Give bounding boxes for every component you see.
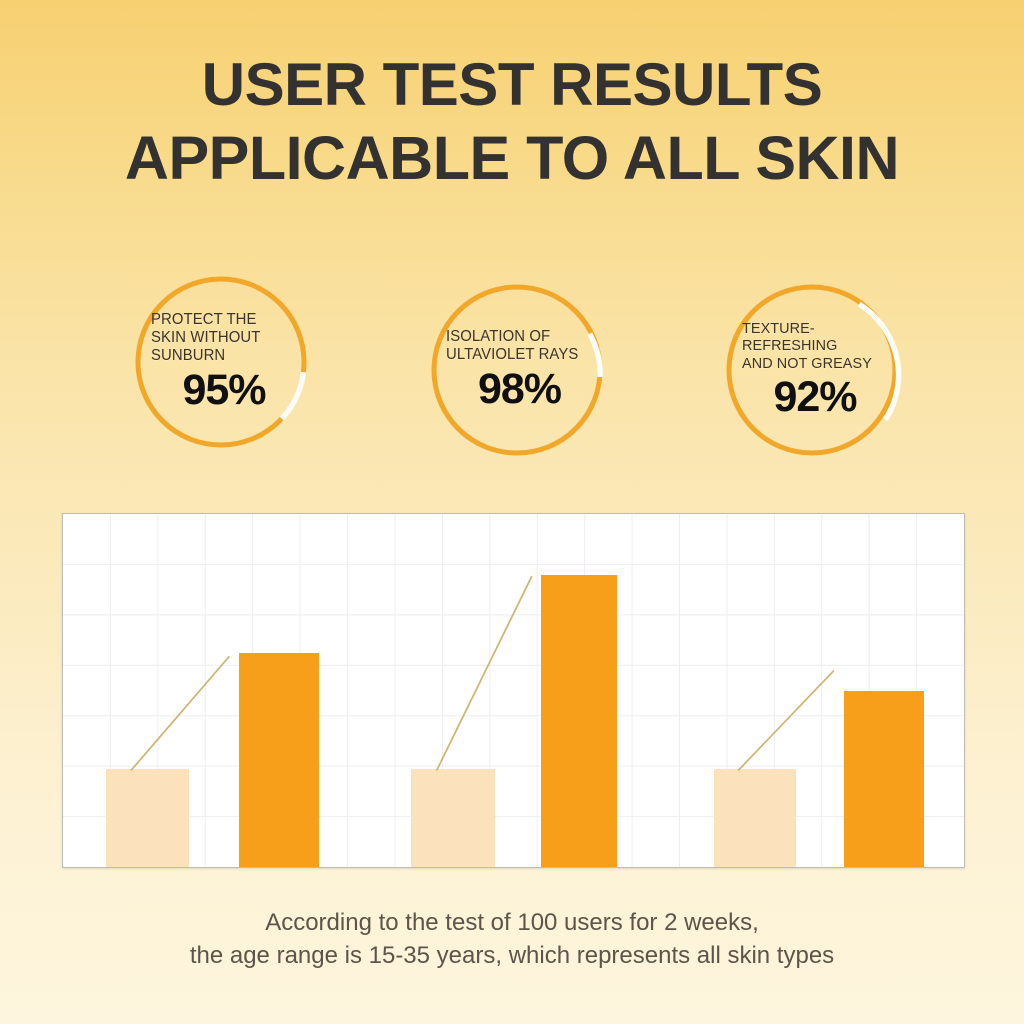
chart-bar: [411, 769, 496, 867]
chart-caption: According to the test of 100 users for 2…: [0, 906, 1024, 972]
stat-badge-percent: 92%: [773, 375, 856, 420]
chart-bar: [239, 653, 319, 867]
bar-chart-panel: [62, 513, 965, 868]
stat-badge-label: TEXTURE- REFRESHING AND NOT GREASY: [742, 320, 872, 373]
stat-badge-percent: 95%: [182, 368, 265, 413]
stat-badge-label: ISOLATION OF ULTAVIOLET RAYS: [446, 328, 578, 364]
page-title: USER TEST RESULTS APPLICABLE TO ALL SKIN: [0, 48, 1024, 196]
stat-badge-percent: 98%: [478, 367, 561, 412]
chart-bar: [714, 769, 796, 867]
stat-badge-isolation-uv: ISOLATION OF ULTAVIOLET RAYS 98%: [427, 280, 607, 460]
stat-badge-texture-refreshing: TEXTURE- REFRESHING AND NOT GREASY 92%: [722, 280, 902, 460]
chart-bar: [541, 575, 618, 867]
chart-bars: [63, 514, 964, 867]
chart-caption-line-2: the age range is 15-35 years, which repr…: [0, 939, 1024, 972]
chart-caption-line-1: According to the test of 100 users for 2…: [0, 906, 1024, 939]
stat-badge-label: PROTECT THE SKIN WITHOUT SUNBURN: [151, 311, 260, 365]
stat-badge-protect-skin: PROTECT THE SKIN WITHOUT SUNBURN 95%: [131, 272, 311, 452]
chart-bar: [106, 769, 189, 867]
stat-badge-group: PROTECT THE SKIN WITHOUT SUNBURN 95% ISO…: [0, 272, 1024, 472]
page-title-line-2: APPLICABLE TO ALL SKIN: [0, 121, 1024, 195]
chart-bar: [844, 691, 924, 867]
page-title-line-1: USER TEST RESULTS: [0, 48, 1024, 121]
